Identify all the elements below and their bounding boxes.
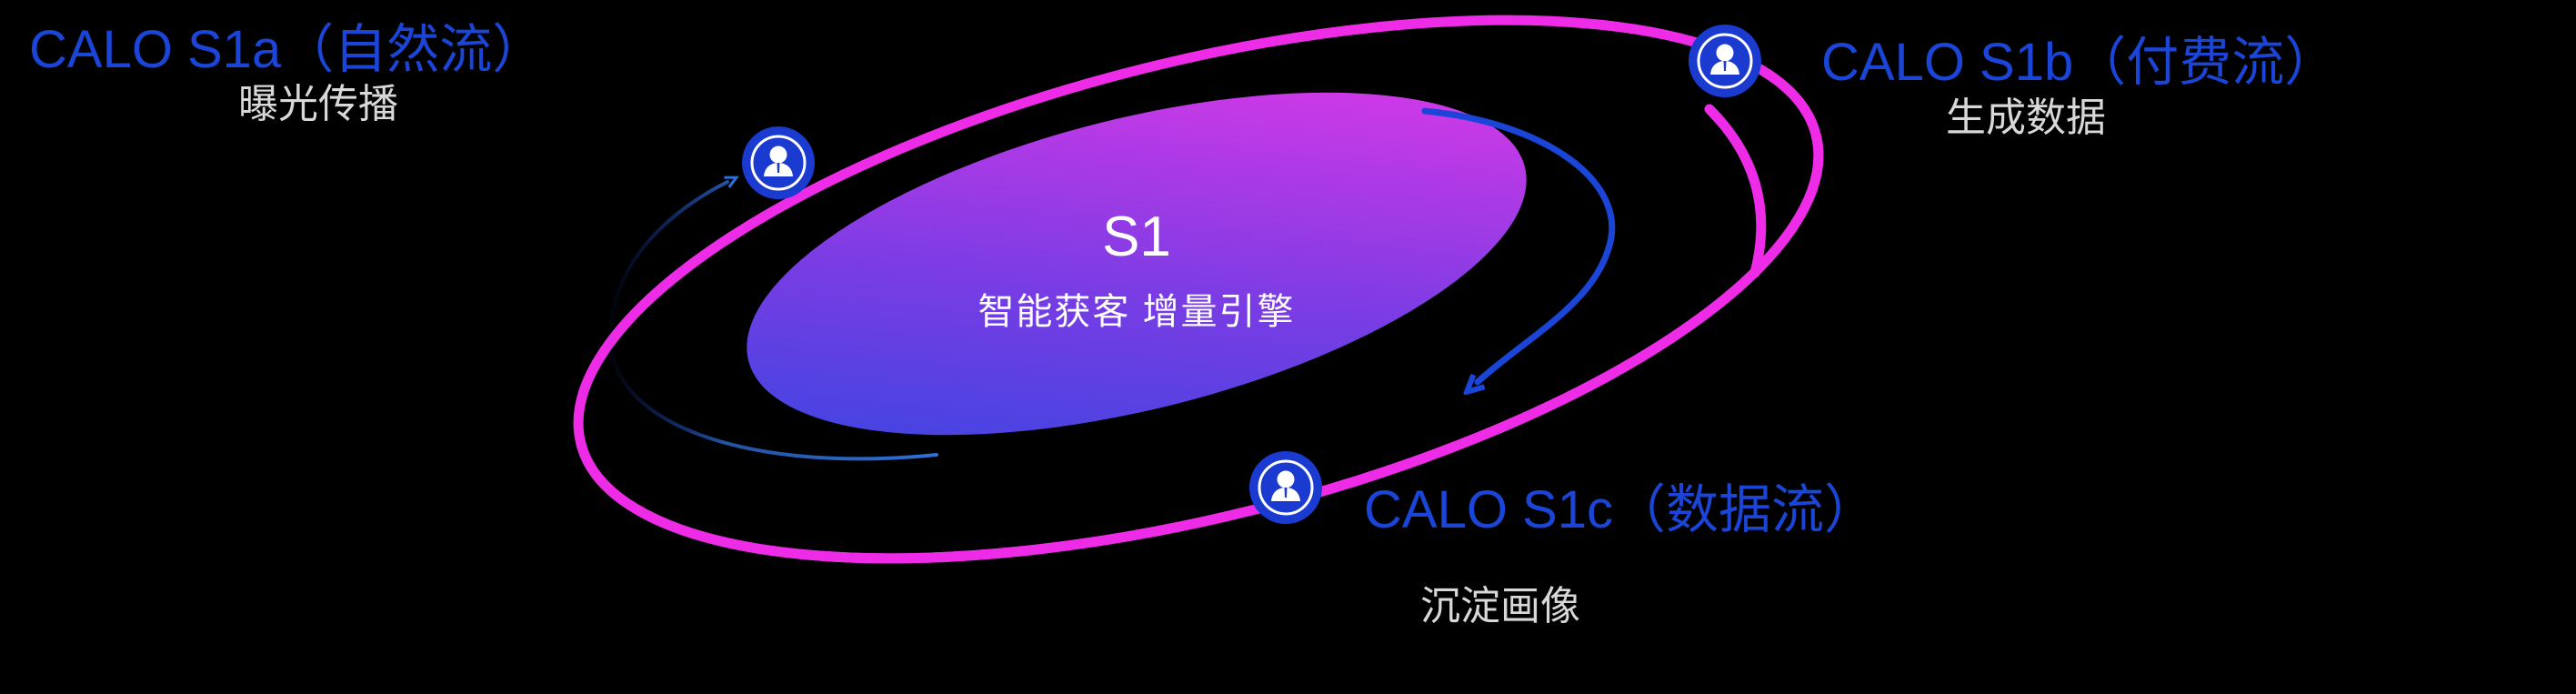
- node-label-s1a[interactable]: CALO S1a（自然流）: [29, 24, 545, 76]
- node-sublabel-s1c: 沉淀画像: [1420, 587, 1580, 627]
- node-sublabel-s1b: 生成数据: [1946, 98, 2106, 138]
- node-label-s1c[interactable]: CALO S1c（数据流）: [1364, 484, 1877, 537]
- node-button-s1a[interactable]: [743, 127, 814, 198]
- core-subtitle: 智能获客 增量引擎: [909, 282, 1364, 335]
- core-text-block: S1 智能获客 增量引擎: [909, 205, 1364, 335]
- node-label-s1b[interactable]: CALO S1b（付费流）: [1821, 36, 2337, 89]
- diagram-canvas: S1 智能获客 增量引擎 CALO S1a（自然流） 曝光传播 CALO S1b…: [0, 0, 2576, 694]
- node-button-s1b[interactable]: [1689, 25, 1760, 96]
- node-sublabel-s1a: 曝光传播: [238, 85, 398, 125]
- core-title: S1: [909, 205, 1364, 269]
- node-button-s1c[interactable]: [1250, 452, 1321, 523]
